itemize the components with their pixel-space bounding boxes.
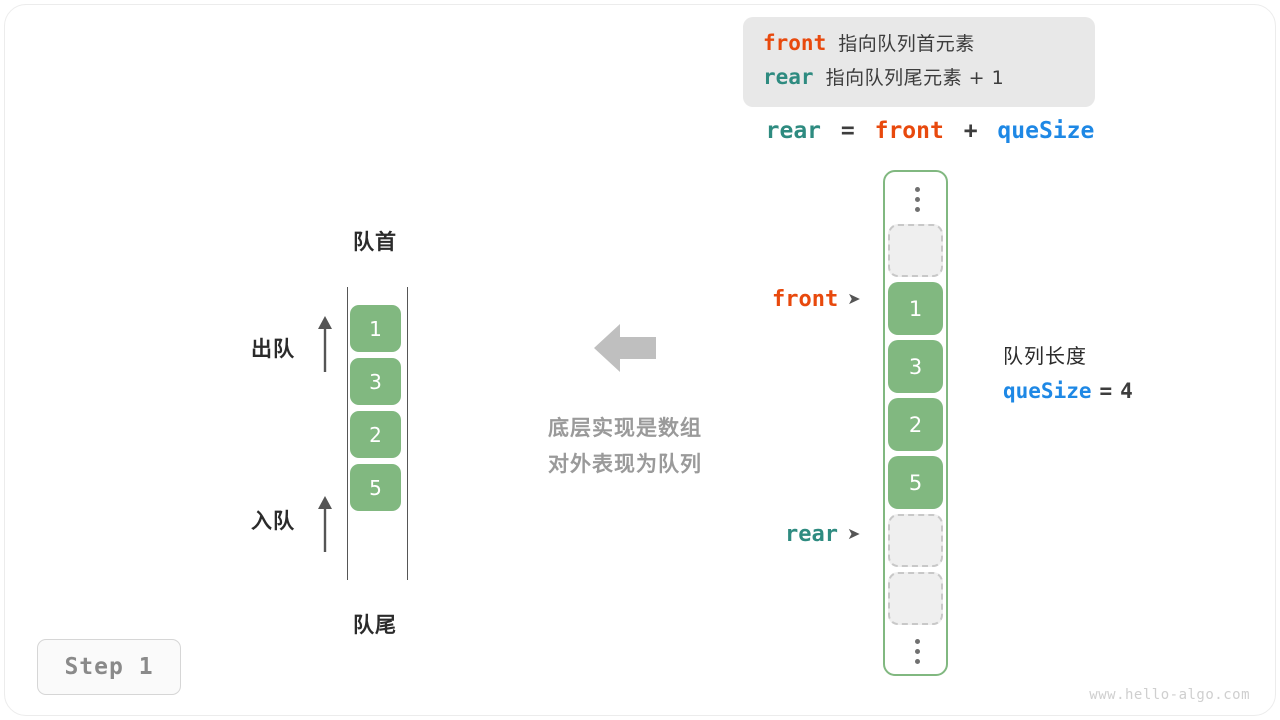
array-slot-empty (888, 572, 943, 625)
rear-description: 指向队列尾元素 + 1 (826, 63, 1005, 90)
array-slot-filled: 5 (888, 456, 943, 509)
caption-line-2: 对外表现为队列 (495, 446, 755, 482)
formula-front: front (875, 118, 944, 144)
quesize-equals: = (1100, 379, 1113, 403)
middle-caption: 底层实现是数组 对外表现为队列 (495, 410, 755, 482)
array-slot-empty (888, 224, 943, 277)
queue-size-block: 队列长度 queSize=4 (1003, 340, 1133, 403)
dequeue-label: 出队 (251, 333, 295, 363)
watermark: www.hello-algo.com (1089, 687, 1250, 703)
info-line-front: front 指向队列首元素 (763, 29, 1095, 63)
formula-plus: + (964, 118, 978, 144)
quesize-value: 4 (1120, 379, 1133, 403)
queue-cell: 2 (350, 411, 401, 458)
front-pointer-arrow-icon: ➤ (847, 292, 860, 308)
array-slot-filled: 2 (888, 398, 943, 451)
queue-size-expression: queSize=4 (1003, 379, 1133, 403)
queue-head-label: 队首 (300, 226, 450, 256)
array-bottom-ellipsis-icon (885, 632, 950, 670)
rear-keyword: rear (763, 65, 814, 89)
queue-size-title: 队列长度 (1003, 340, 1133, 369)
array-top-ellipsis-icon (885, 180, 950, 218)
enqueue-up-arrow-icon (316, 496, 334, 552)
array-slot-filled: 3 (888, 340, 943, 393)
queue-cell: 3 (350, 358, 401, 405)
info-line-rear: rear 指向队列尾元素 + 1 (763, 63, 1095, 97)
queue-rail-left (347, 287, 348, 580)
diagram-canvas: front 指向队列首元素 rear 指向队列尾元素 + 1 rear = fr… (0, 0, 1280, 720)
left-arrow-icon (594, 320, 656, 376)
queue-tail-label: 队尾 (300, 609, 450, 639)
pointer-definition-box: front 指向队列首元素 rear 指向队列尾元素 + 1 (743, 17, 1095, 107)
front-pointer-label: front (772, 287, 838, 312)
rear-pointer: rear ➤ (785, 522, 860, 547)
rear-formula: rear = front + queSize (760, 118, 1100, 144)
front-keyword: front (763, 31, 826, 55)
formula-quesize: queSize (997, 118, 1094, 144)
step-badge: Step 1 (37, 639, 181, 695)
dequeue-up-arrow-icon (316, 316, 334, 372)
array-container: 1 3 2 5 (883, 170, 948, 676)
rear-pointer-label: rear (785, 522, 838, 547)
formula-rear: rear (766, 118, 821, 144)
formula-equals: = (841, 118, 855, 144)
array-slot-empty (888, 514, 943, 567)
queue-rail-right (407, 287, 408, 580)
queue-cell: 5 (350, 464, 401, 511)
enqueue-label: 入队 (251, 505, 295, 535)
queue-cell: 1 (350, 305, 401, 352)
array-slot-filled: 1 (888, 282, 943, 335)
front-pointer: front ➤ (772, 287, 861, 312)
rear-pointer-arrow-icon: ➤ (847, 527, 860, 543)
front-description: 指向队列首元素 (838, 29, 975, 56)
quesize-name: queSize (1003, 379, 1092, 403)
caption-line-1: 底层实现是数组 (495, 410, 755, 446)
